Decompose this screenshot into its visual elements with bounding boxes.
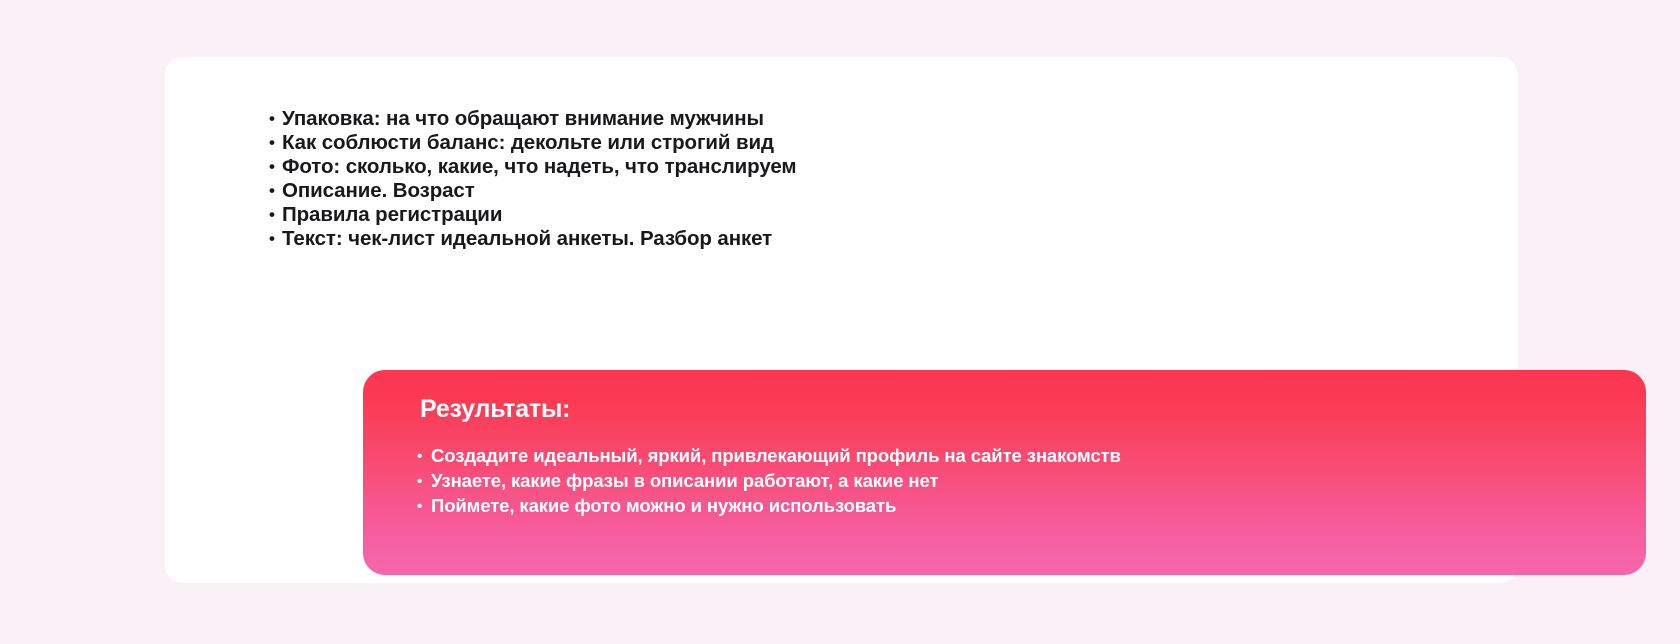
list-item: • Создадите идеальный, яркий, привлекающ…: [417, 445, 1121, 470]
content-panel: • Упаковка: на что обращают внимание муж…: [165, 57, 1518, 583]
results-card: Результаты: • Создадите идеальный, яркий…: [363, 370, 1646, 575]
list-item: • Как соблюсти баланс: декольте или стро…: [269, 132, 796, 156]
topic-item-text: Правила регистрации: [282, 204, 502, 226]
bullet-dot-icon: •: [417, 471, 431, 494]
list-item: • Правила регистрации: [269, 204, 796, 228]
results-bullet-list: • Создадите идеальный, яркий, привлекающ…: [417, 445, 1121, 519]
topic-item-text: Описание. Возраст: [282, 180, 475, 202]
topic-item-text: Как соблюсти баланс: декольте или строги…: [282, 132, 774, 154]
bullet-dot-icon: •: [269, 180, 282, 202]
result-item-text: Поймете, какие фото можно и нужно исполь…: [431, 495, 896, 518]
topic-bullet-list: • Упаковка: на что обращают внимание муж…: [269, 108, 796, 251]
topic-item-text: Упаковка: на что обращают внимание мужчи…: [282, 108, 764, 130]
topic-item-text: Текст: чек-лист идеальной анкеты. Разбор…: [282, 228, 772, 250]
bullet-dot-icon: •: [269, 204, 282, 226]
topic-item-text: Фото: сколько, какие, что надеть, что тр…: [282, 156, 796, 178]
bullet-dot-icon: •: [269, 156, 282, 178]
bullet-dot-icon: •: [269, 228, 282, 250]
bullet-dot-icon: •: [417, 446, 431, 469]
list-item: • Описание. Возраст: [269, 180, 796, 204]
bullet-dot-icon: •: [417, 496, 431, 519]
list-item: • Текст: чек-лист идеальной анкеты. Разб…: [269, 228, 796, 252]
list-item: • Поймете, какие фото можно и нужно испо…: [417, 495, 1121, 520]
list-item: • Упаковка: на что обращают внимание муж…: [269, 108, 796, 132]
list-item: • Фото: сколько, какие, что надеть, что …: [269, 156, 796, 180]
results-card-title: Результаты:: [420, 394, 570, 424]
result-item-text: Узнаете, какие фразы в описании работают…: [431, 470, 938, 493]
bullet-dot-icon: •: [269, 108, 282, 130]
bullet-dot-icon: •: [269, 132, 282, 154]
list-item: • Узнаете, какие фразы в описании работа…: [417, 470, 1121, 495]
slide-canvas: • Упаковка: на что обращают внимание муж…: [0, 0, 1680, 644]
result-item-text: Создадите идеальный, яркий, привлекающий…: [431, 445, 1121, 468]
